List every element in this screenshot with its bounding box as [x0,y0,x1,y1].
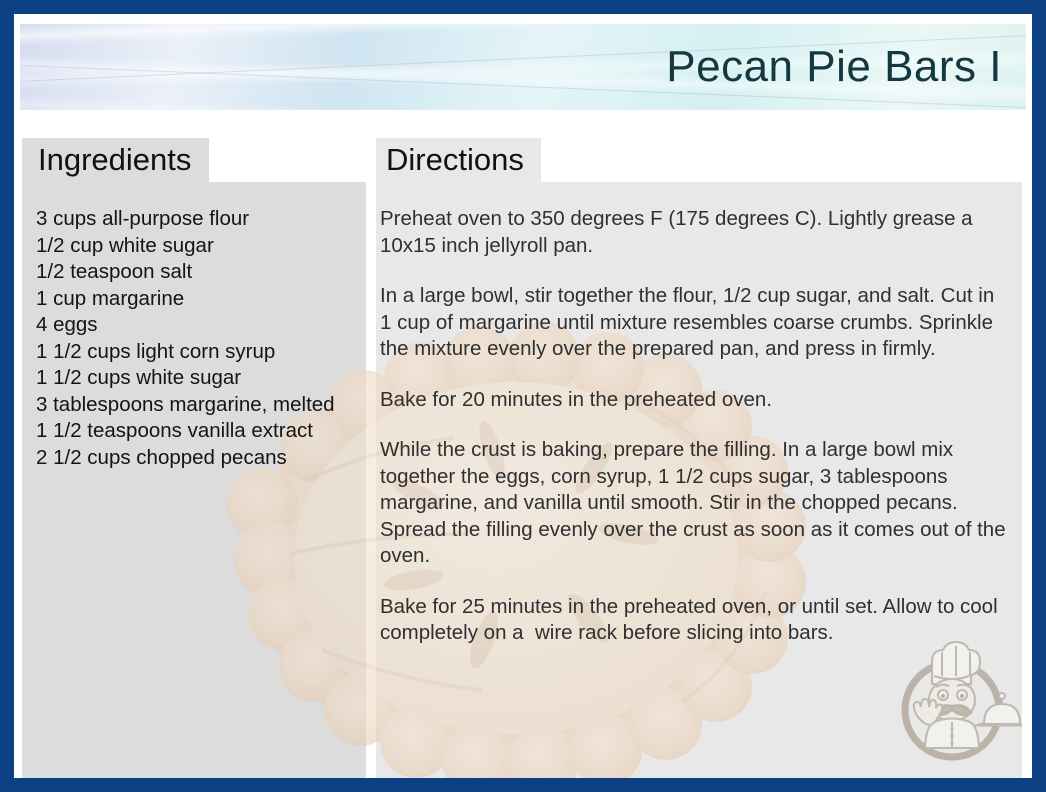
direction-step: Bake for 25 minutes in the preheated ove… [380,594,1008,647]
list-item: 1/2 teaspoon salt [36,259,366,286]
direction-step: While the crust is baking, prepare the f… [380,437,1008,570]
recipe-card: Pecan Pie Bars I Ingredients Directions [0,0,1046,792]
ingredients-tab: Ingredients [22,138,209,182]
list-item: 1/2 cup white sugar [36,233,366,260]
list-item: 2 1/2 cups chopped pecans [36,445,366,472]
direction-step: In a large bowl, stir together the flour… [380,283,1008,363]
list-item: 1 1/2 teaspoons vanilla extract [36,418,366,445]
list-item: 3 tablespoons margarine, melted [36,392,366,419]
ingredients-list: 3 cups all-purpose flour 1/2 cup white s… [36,206,366,471]
direction-step: Bake for 20 minutes in the preheated ove… [380,387,1008,414]
directions-heading: Directions [386,142,524,178]
directions-steps: Preheat oven to 350 degrees F (175 degre… [380,206,1008,647]
title-banner: Pecan Pie Bars I [20,24,1026,110]
card-inner-matting: Pecan Pie Bars I Ingredients Directions [14,14,1032,778]
recipe-title: Pecan Pie Bars I [666,42,1002,92]
direction-step: Preheat oven to 350 degrees F (175 degre… [380,206,1008,259]
list-item: 1 1/2 cups light corn syrup [36,339,366,366]
directions-tab: Directions [376,138,541,182]
list-item: 1 cup margarine [36,286,366,313]
list-item: 1 1/2 cups white sugar [36,365,366,392]
list-item: 4 eggs [36,312,366,339]
ingredients-heading: Ingredients [38,142,191,178]
list-item: 3 cups all-purpose flour [36,206,366,233]
